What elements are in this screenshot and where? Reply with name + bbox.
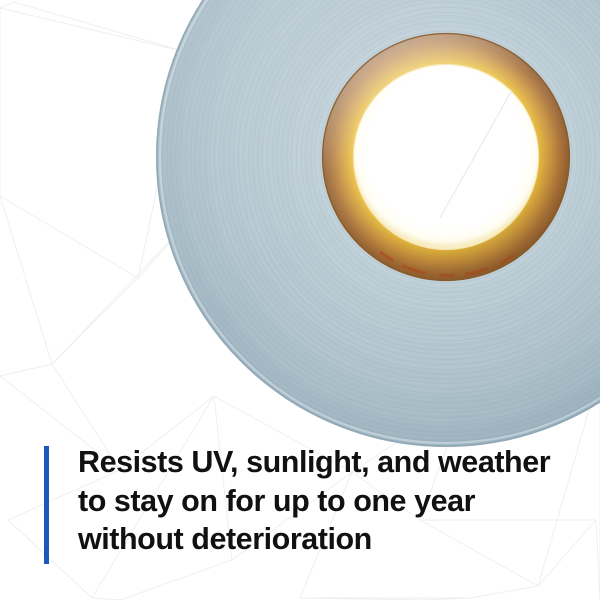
tape-layer-ring [204, 0, 600, 399]
caption-line-1: Resists UV, sunlight, and weather [78, 443, 550, 482]
tape-layer-ring [272, 0, 600, 331]
polygon-edge [186, 0, 258, 52]
tape-body [156, 0, 600, 447]
tape-layer-ring [298, 9, 594, 305]
tape-layer-ring [221, 0, 600, 382]
polygon-edge [138, 52, 186, 278]
accent-bar [44, 446, 49, 564]
tape-layer-ring [310, 21, 582, 293]
polygon-edge [276, 26, 320, 180]
polygon-edge [0, 8, 186, 52]
tape-layer-ring [213, 0, 600, 390]
tape-layer-ring [257, 0, 600, 346]
polygon-edge [0, 196, 138, 278]
tape-layer-ring [266, 0, 600, 337]
tape-layer-ring [267, 0, 600, 336]
caption-line-3: without deterioration [78, 520, 550, 559]
tape-layer-ring [250, 0, 600, 353]
tape-layer-ring [295, 6, 598, 309]
tape-layer-ring [208, 0, 600, 395]
tape-layer-ring [215, 0, 600, 388]
polygon-edge [196, 180, 276, 214]
tape-layer-ring [170, 0, 600, 433]
tape-layer-ring [255, 0, 600, 348]
polygon-edge [320, 2, 600, 26]
tape-layer-ring [293, 4, 599, 310]
tape-layer-ring [225, 0, 600, 378]
tape-layer-ring [172, 0, 600, 431]
tape-layer-ring [227, 0, 600, 377]
tape-layer-ring [218, 0, 600, 385]
tape-layer-ring [198, 0, 600, 405]
tape-layer-ring [160, 0, 600, 443]
polygon-edge [466, 150, 600, 396]
tape-layer-ring [206, 0, 600, 397]
tape-layer-ring [303, 14, 589, 300]
tape-layer-ring [312, 23, 581, 292]
tape-layer-ring [305, 16, 588, 299]
tape-layer-ring [233, 0, 600, 370]
tape-layer-ring [157, 0, 600, 446]
tape-layer-ring [283, 0, 600, 320]
tape-layer-ring [279, 0, 600, 324]
tape-layer-ring [189, 0, 600, 414]
caption-line-2: to stay on for up to one year [78, 482, 550, 521]
tape-layer-ring [199, 0, 600, 404]
polygon-edge [258, 0, 320, 26]
tape-layer-ring [313, 24, 579, 290]
polygon-edge [52, 214, 196, 364]
tape-layer-ring [317, 28, 576, 287]
polygon-edge [470, 586, 538, 598]
tape-layer-ring [232, 0, 600, 371]
core-print-bands [334, 214, 562, 301]
polygon-edge [120, 560, 232, 600]
tape-layer-ring [296, 7, 596, 307]
tape-layer-ring [230, 0, 600, 373]
polygon-edge [138, 214, 196, 278]
tape-layer-ring [201, 0, 600, 402]
tape-layer-ring [228, 0, 600, 375]
polygon-edge [14, 2, 186, 52]
tape-layer-ring [249, 0, 600, 354]
core-print-red-text [380, 250, 520, 276]
tape-layer-ring [203, 0, 600, 400]
tape-layer-ring [240, 0, 600, 363]
polygon-edge [0, 2, 14, 8]
tape-layer-ring [288, 0, 600, 315]
tape-layer-ring [278, 0, 600, 326]
tape-layer-ring [237, 0, 600, 366]
tape-layer-ring [191, 0, 600, 412]
tape-layer-ring [194, 0, 600, 409]
tape-layer-ring [274, 0, 600, 329]
tape-layer-ring [306, 17, 585, 296]
tape-layer-ring [264, 0, 600, 339]
tape-layer-ring [181, 0, 600, 422]
tape-layer-ring [235, 0, 600, 368]
tape-layer-ring [167, 0, 600, 436]
tape-layer-ring [308, 19, 584, 295]
tape-layer-ring [262, 0, 600, 341]
tape-layer-ring [182, 0, 600, 421]
tape-core-hole [353, 64, 539, 250]
tape-layer-ring [196, 0, 600, 407]
tape-layer-ring [176, 0, 600, 428]
tape-layer-ring [210, 0, 600, 394]
tape-layer-ring [184, 0, 600, 419]
tape-layer-ring [289, 0, 600, 313]
tape-layer-ring [269, 0, 600, 334]
tape-layer-ring [301, 12, 590, 301]
tape-layer-ring [193, 0, 600, 411]
polygon-edge [466, 372, 600, 396]
tape-layer-ring [281, 0, 600, 322]
tape-layer-ring [276, 0, 600, 327]
hole-crease-line [440, 90, 512, 218]
tape-layer-ring [169, 0, 600, 434]
tape-layer-ring [291, 2, 600, 312]
tape-layer-ring [223, 0, 600, 380]
tape-layer-ring [220, 0, 600, 383]
product-feature-image: Resists UV, sunlight, and weather to sta… [0, 0, 600, 600]
tape-layer-ring [320, 31, 572, 283]
tape-layer-ring [186, 0, 600, 417]
tape-layer-ring [242, 0, 600, 361]
tape-layer-ring [300, 11, 593, 304]
tape-layer-ring [159, 0, 600, 445]
polygon-edge [0, 196, 52, 364]
tape-layer-ring [179, 0, 600, 424]
tape-layer-ring [216, 0, 600, 387]
tape-layer-ring [284, 0, 600, 319]
tape-layer-ring [286, 0, 600, 317]
tape-layer-ring [254, 0, 600, 349]
tape-layer-ring [162, 0, 600, 441]
tape-layer-ring [164, 0, 600, 439]
tape-layer-ring [271, 0, 600, 332]
polygon-edge [596, 520, 600, 600]
tape-core [322, 33, 570, 301]
caption-block: Resists UV, sunlight, and weather to sta… [44, 443, 584, 564]
tape-layer-ring [238, 0, 600, 365]
tape-layer-ring [261, 0, 600, 343]
tape-layer-ring [177, 0, 600, 426]
tape-layer-ring [165, 0, 600, 438]
tape-layer-ring [245, 0, 600, 358]
tape-layer-rings [157, 0, 600, 446]
tape-layer-ring [247, 0, 600, 356]
tape-layer-ring [259, 0, 600, 344]
tape-layer-ring [315, 26, 577, 288]
caption-text: Resists UV, sunlight, and weather to sta… [78, 443, 550, 559]
tape-layer-ring [244, 0, 600, 360]
polygon-edge [0, 364, 52, 376]
tape-layer-ring [318, 29, 573, 284]
tape-layer-ring [174, 0, 600, 429]
tape-layer-ring [252, 0, 600, 351]
polygon-edge [276, 150, 600, 180]
tape-layer-ring [187, 0, 600, 416]
polygon-edge [52, 278, 138, 364]
tape-layer-ring [211, 0, 600, 392]
